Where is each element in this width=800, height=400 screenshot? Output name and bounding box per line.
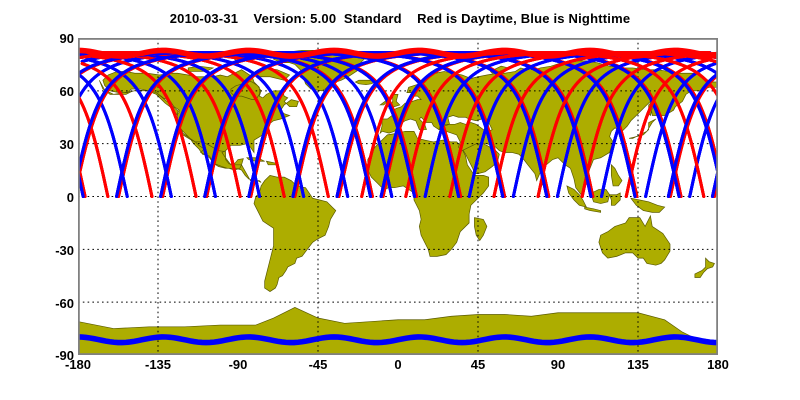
y-tick-label: 60 bbox=[40, 84, 74, 99]
x-tick-label: 0 bbox=[368, 357, 428, 372]
x-tick-label: -90 bbox=[208, 357, 268, 372]
y-tick-label: 0 bbox=[40, 190, 74, 205]
y-tick-label: -60 bbox=[40, 296, 74, 311]
y-tick-label: -30 bbox=[40, 243, 74, 258]
map-plot-area bbox=[78, 38, 718, 355]
y-tick-label: 30 bbox=[40, 137, 74, 152]
x-tick-label: -180 bbox=[48, 357, 108, 372]
ground-track-map bbox=[78, 38, 718, 355]
x-tick-label: 180 bbox=[688, 357, 748, 372]
figure-root: 2010-03-31 Version: 5.00 Standard Red is… bbox=[0, 0, 800, 400]
chart-title: 2010-03-31 Version: 5.00 Standard Red is… bbox=[0, 11, 800, 26]
x-tick-label: 45 bbox=[448, 357, 508, 372]
x-tick-label: 90 bbox=[528, 357, 588, 372]
x-tick-label: -135 bbox=[128, 357, 188, 372]
x-tick-label: 135 bbox=[608, 357, 668, 372]
x-tick-label: -45 bbox=[288, 357, 348, 372]
y-tick-label: 90 bbox=[40, 31, 74, 46]
